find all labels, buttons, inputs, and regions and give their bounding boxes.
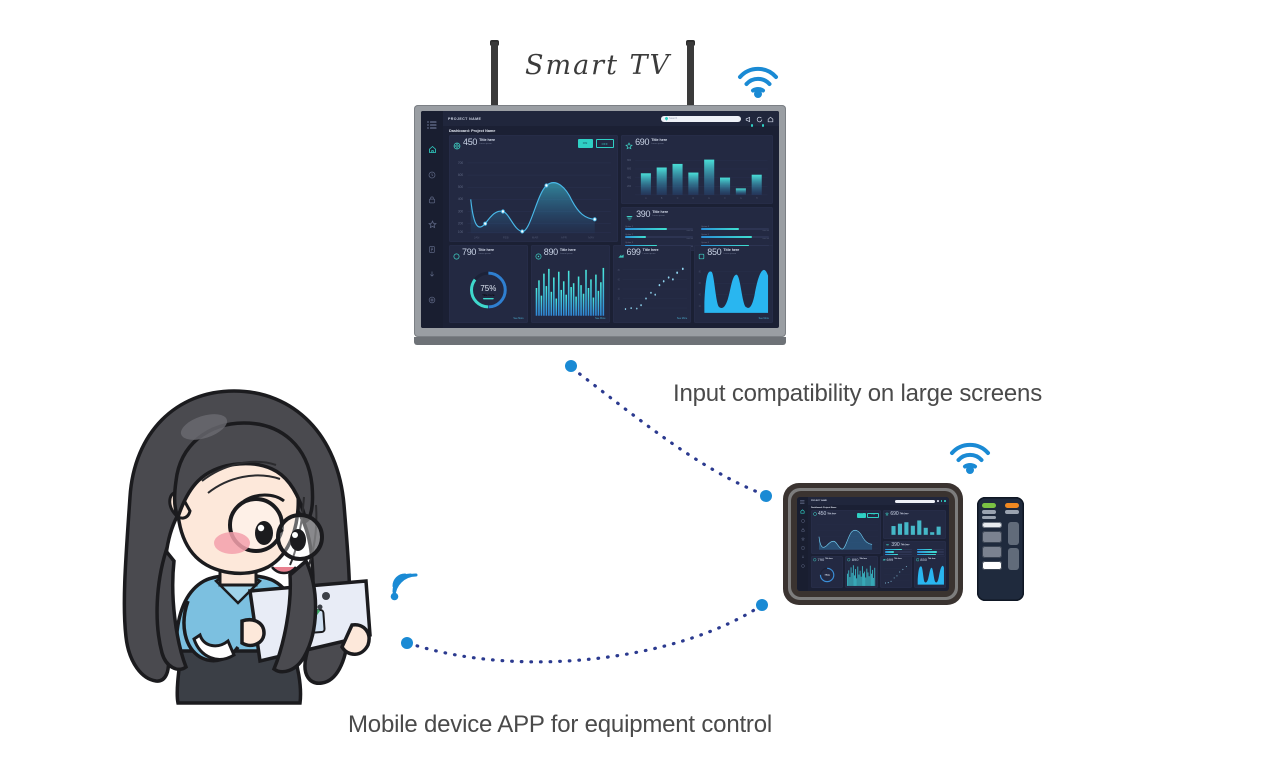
dashboard-header: PROJECT NAME xyxy=(808,497,949,505)
dashboard-sidebar xyxy=(797,497,808,591)
svg-text:MAY: MAY xyxy=(588,235,594,239)
card-title-block: Title here Lorem ipsum xyxy=(560,248,576,256)
card-subtitle: Lorem ipsum xyxy=(478,253,494,256)
dashboard-large: PROJECT NAME Search xyxy=(421,111,779,328)
dashboard-top-right-col: 690 Title here Lorem ipsum xyxy=(883,510,946,554)
svg-text:600: 600 xyxy=(627,169,632,171)
card-title-block: Title here Lorem ipsum xyxy=(723,248,739,256)
remote-control xyxy=(977,497,1024,601)
target-icon xyxy=(813,512,817,516)
progress-row: Option 5 456/700 xyxy=(701,234,769,240)
svg-text:500: 500 xyxy=(458,185,463,189)
tv-bezel: PROJECT NAME Search xyxy=(414,105,786,337)
circle-icon xyxy=(453,248,460,264)
card-value: 690 xyxy=(635,138,649,147)
svg-text:F: F xyxy=(724,198,726,200)
hand-left xyxy=(242,620,264,646)
megaphone-icon[interactable] xyxy=(745,111,752,127)
see-more-link[interactable]: See More xyxy=(453,316,524,320)
card-header: 699 Title here Lorem ipsum xyxy=(617,248,688,264)
lock-icon[interactable] xyxy=(801,528,805,532)
card-header: 790 Title here xyxy=(813,558,841,562)
home-icon[interactable] xyxy=(800,509,805,514)
chart-699-scatter: 806040 20 xyxy=(617,266,688,316)
white-pill[interactable] xyxy=(982,522,1002,528)
toggle-off-button[interactable]: OFF xyxy=(867,513,879,518)
progress-value: 456/700 xyxy=(701,230,769,232)
project-name-label: PROJECT NAME xyxy=(448,117,481,121)
clock-icon[interactable] xyxy=(428,167,436,183)
see-more-link[interactable]: See More xyxy=(698,316,769,320)
progress-row xyxy=(917,551,944,553)
svg-text:40: 40 xyxy=(617,289,620,291)
path-endpoint-tv xyxy=(565,360,577,372)
svg-text:APR: APR xyxy=(561,235,568,239)
caption-input-compatibility: Input compatibility on large screens xyxy=(673,380,1042,408)
card-subtitle: Lorem ipsum xyxy=(651,143,667,146)
card-890[interactable]: 890 Title here Lorem ipsum xyxy=(531,245,610,323)
card-790[interactable]: 790 Title here Lorem ipsum xyxy=(449,245,528,323)
white-square-button[interactable] xyxy=(982,561,1002,570)
card-title-block: Title here Lorem ipsum xyxy=(900,512,909,517)
tablet-device: PROJECT NAME Dashboard: Project Name xyxy=(783,483,963,605)
toggle-off-button[interactable]: OFF xyxy=(596,139,615,148)
svg-text:100: 100 xyxy=(458,230,463,234)
card-title: Title here xyxy=(894,559,901,561)
remote-lower-section xyxy=(982,522,1019,570)
svg-text:MAR: MAR xyxy=(532,235,539,239)
progress-label: Option 6 xyxy=(701,242,769,244)
svg-text:800: 800 xyxy=(627,160,632,162)
remote-right-column xyxy=(1008,522,1019,570)
card-subtitle: Lorem ipsum xyxy=(900,515,909,517)
scene-canvas: PROJECT NAME Search xyxy=(0,0,1280,784)
svg-text:400: 400 xyxy=(627,177,632,179)
document-icon[interactable] xyxy=(428,242,436,258)
remote-top-row xyxy=(982,503,1019,508)
star-icon xyxy=(625,138,633,154)
dashboard-header: PROJECT NAME Search xyxy=(443,111,779,126)
chart-850-area xyxy=(916,564,944,586)
card-subtitle: Lorem ipsum xyxy=(652,215,668,218)
progress-track xyxy=(625,245,693,247)
progress-track xyxy=(625,236,693,238)
wifi-icon-person xyxy=(388,573,420,603)
dashboard-main: PROJECT NAME Search xyxy=(443,111,779,328)
chart-690-bars xyxy=(885,519,944,537)
card-title-block: Title here xyxy=(928,558,935,561)
card-title-block: Title here Lorem ipsum xyxy=(479,138,495,146)
dashboard-row-top: 450 Title here Lorem ipsum ON OFF xyxy=(449,135,773,242)
eye-right xyxy=(290,529,306,551)
home-icon[interactable] xyxy=(944,500,946,502)
card-value: 850 xyxy=(707,248,721,257)
card-790[interactable]: 790 Title here 75% xyxy=(811,556,843,588)
chart-790-donut: 75% xyxy=(813,564,841,586)
chart-450-line: 700600500 400300200 100 JANFEBMAR APRMAY xyxy=(453,156,614,239)
card-value: 890 xyxy=(544,248,558,257)
progress-track xyxy=(625,228,693,230)
progress-value: 456/700 xyxy=(701,238,769,240)
progress-value: 456/700 xyxy=(625,230,693,232)
svg-text:20: 20 xyxy=(617,299,620,301)
home-icon[interactable] xyxy=(428,142,437,158)
layers-icon xyxy=(885,543,890,547)
eye-right-glint xyxy=(292,532,298,538)
chat-icon[interactable] xyxy=(756,111,763,127)
square-icon xyxy=(916,558,920,562)
card-title-block: Title here Lorem ipsum xyxy=(643,248,659,256)
volume-bar-1[interactable] xyxy=(1008,522,1019,545)
home-icon[interactable] xyxy=(767,111,774,127)
svg-text:60: 60 xyxy=(699,283,702,285)
card-header: 790 Title here Lorem ipsum xyxy=(453,248,524,264)
card-450[interactable]: 450 Title here Lorem ipsum ON OFF xyxy=(449,135,618,242)
progress-row xyxy=(917,554,944,556)
card-title: Title here xyxy=(928,559,935,561)
svg-text:40: 40 xyxy=(699,295,702,297)
path-endpoint-tablet-upper xyxy=(760,490,772,502)
card-header: 690 Title here Lorem ipsum xyxy=(885,512,944,517)
card-850[interactable]: 850 Title here xyxy=(914,556,946,588)
remote-second-row xyxy=(982,510,1019,514)
card-title-block: Title here Lorem ipsum xyxy=(651,138,667,146)
dashboard-body: 450 Title here Lorem ipsum ON OFF xyxy=(808,510,949,591)
gauge-icon xyxy=(847,558,851,562)
bar-series xyxy=(535,268,603,316)
card-value: 850 xyxy=(920,558,927,562)
download-icon[interactable] xyxy=(801,555,805,559)
card-title: Title here xyxy=(859,559,866,561)
dashboard-tablet: PROJECT NAME Dashboard: Project Name xyxy=(797,497,949,591)
card-value: 890 xyxy=(852,558,859,562)
person-with-tablet-svg xyxy=(104,385,369,705)
blush xyxy=(214,532,250,554)
path-endpoint-tablet-lower xyxy=(756,599,768,611)
card-subtitle: Lorem ipsum xyxy=(827,515,836,517)
megaphone-icon[interactable] xyxy=(937,500,939,502)
dashboard-main: PROJECT NAME Dashboard: Project Name xyxy=(808,497,949,591)
toggle-group: ON OFF xyxy=(578,138,614,148)
svg-text:600: 600 xyxy=(458,173,463,177)
progress-track xyxy=(701,236,769,238)
nav-pad-2[interactable] xyxy=(982,546,1002,558)
card-value: 699 xyxy=(627,248,641,257)
progress-row xyxy=(885,551,912,553)
gray-pill-3[interactable] xyxy=(982,516,996,520)
progress-track xyxy=(701,245,769,247)
card-subtitle: Lorem ipsum xyxy=(560,253,576,256)
svg-text:D: D xyxy=(693,198,695,200)
caption-mobile-app: Mobile device APP for equipment control xyxy=(348,711,772,739)
card-value: 450 xyxy=(463,138,477,147)
card-title-block: Title here xyxy=(894,558,901,561)
card-title-block: Title here Lorem ipsum xyxy=(827,512,836,517)
toggle-on-button[interactable]: ON xyxy=(857,513,866,518)
card-value: 690 xyxy=(890,512,898,517)
document-icon[interactable] xyxy=(801,546,805,550)
svg-text:80: 80 xyxy=(617,270,620,272)
card-value: 699 xyxy=(887,558,894,562)
wifi-icon-tv xyxy=(735,58,781,98)
chart-390-progress xyxy=(885,548,944,555)
dotted-path-person-to-tablet xyxy=(408,605,762,662)
tablet-sensor xyxy=(318,605,323,610)
lock-icon[interactable] xyxy=(428,192,436,208)
card-699[interactable]: 699 Title here xyxy=(880,556,912,588)
card-header: 450 Title here Lorem ipsum ON OFF xyxy=(453,138,614,154)
chart-790-donut: 75% Title here xyxy=(453,266,524,316)
star-icon[interactable] xyxy=(801,537,805,541)
tablet-camera xyxy=(322,592,330,600)
chart-450-line xyxy=(813,520,879,552)
card-header: 890 Title here xyxy=(847,558,875,562)
clock-icon[interactable] xyxy=(801,519,805,523)
card-header: 699 Title here xyxy=(882,558,910,562)
progress-row: Option 4 456/700 xyxy=(701,226,769,232)
square-icon xyxy=(698,248,705,264)
wifi-icon-tablet xyxy=(947,434,993,474)
card-450[interactable]: 450 Title here Lorem ipsum ON OFF xyxy=(811,510,881,554)
svg-text:400: 400 xyxy=(458,197,463,201)
smart-tv-label: Smart TV xyxy=(508,50,688,81)
card-value: 450 xyxy=(818,512,826,517)
nav-pad-1[interactable] xyxy=(982,531,1002,543)
svg-text:C: C xyxy=(677,198,679,200)
svg-text:FEB: FEB xyxy=(503,235,509,239)
tv-base-strip xyxy=(414,337,786,345)
notification-dot-2 xyxy=(762,124,765,127)
svg-text:JAN: JAN xyxy=(474,235,479,239)
smart-tv: PROJECT NAME Search xyxy=(414,105,786,345)
search-input[interactable]: Search xyxy=(661,116,741,122)
chart-690-bars: 800600 400200 xyxy=(625,156,769,201)
eye-left-glint xyxy=(258,525,264,531)
card-390[interactable]: 390 Title here Lorem ipsum xyxy=(883,541,946,557)
dashboard-row-top: 450 Title here Lorem ipsum ON OFF xyxy=(811,510,946,554)
gray-pill-2[interactable] xyxy=(1005,510,1019,514)
target-icon xyxy=(453,138,461,154)
svg-text:200: 200 xyxy=(458,221,463,225)
layers-icon xyxy=(625,210,634,226)
card-header: 450 Title here Lorem ipsum ON OFF xyxy=(813,512,879,518)
gray-pill-1[interactable] xyxy=(982,510,996,514)
progress-value: 456/700 xyxy=(625,238,693,240)
svg-text:700: 700 xyxy=(458,161,463,165)
eye-left xyxy=(255,521,273,545)
card-699[interactable]: 699 Title here Lorem ipsum xyxy=(613,245,692,323)
card-title-block: Title here xyxy=(859,558,866,561)
remote-third-row xyxy=(982,516,1019,520)
notification-dot-1 xyxy=(751,124,754,127)
circle-icon xyxy=(813,558,817,562)
card-header: 390 Title here Lorem ipsum xyxy=(625,210,769,226)
dashboard-top-right-col: 690 Title here Lorem ipsum xyxy=(621,135,773,242)
card-header: 850 Title here Lorem ipsum xyxy=(698,248,769,264)
card-subtitle: Lorem ipsum xyxy=(479,143,495,146)
breadcrumb: Dashboard: Project Name xyxy=(443,126,779,135)
card-title: Title here xyxy=(825,559,832,561)
dashboard-row-bottom: 790 Title here 75% xyxy=(811,556,946,588)
svg-text:E: E xyxy=(708,198,710,200)
card-header: 850 Title here xyxy=(916,558,944,562)
card-value: 790 xyxy=(818,558,825,562)
svg-text:80: 80 xyxy=(699,272,702,274)
chart-699-scatter xyxy=(882,564,910,586)
progress-row xyxy=(917,548,944,550)
card-title-block: Title here xyxy=(825,558,832,561)
tv-screen[interactable]: PROJECT NAME Search xyxy=(421,111,779,328)
ceiling-mount-post-left xyxy=(491,42,498,108)
person-illustration xyxy=(104,385,369,705)
svg-text:H: H xyxy=(756,198,758,200)
progress-row: Option 1 456/700 xyxy=(625,226,693,232)
progress-row: Option 2 456/700 xyxy=(625,234,693,240)
volume-bar-2[interactable] xyxy=(1008,548,1019,571)
svg-text:B: B xyxy=(661,198,663,200)
svg-text:G: G xyxy=(740,198,742,200)
card-value: 790 xyxy=(462,248,476,257)
power-orange-button[interactable] xyxy=(1005,503,1019,508)
chart-850-area: 80604020 xyxy=(698,266,769,316)
svg-text:20: 20 xyxy=(699,306,702,308)
svg-text:200: 200 xyxy=(627,186,632,188)
location-pin-icon xyxy=(664,116,668,120)
card-header: 890 Title here Lorem ipsum xyxy=(535,248,606,264)
svg-text:300: 300 xyxy=(458,209,463,213)
power-green-button[interactable] xyxy=(982,503,996,508)
search-input[interactable] xyxy=(895,500,935,503)
toggle-on-button[interactable]: ON xyxy=(578,139,593,148)
chart-890-bars xyxy=(847,564,875,586)
card-header: 690 Title here Lorem ipsum xyxy=(625,138,769,154)
star-icon[interactable] xyxy=(428,217,437,233)
dashboard-sidebar xyxy=(421,111,443,328)
card-690[interactable]: 690 Title here Lorem ipsum xyxy=(621,135,773,204)
download-icon[interactable] xyxy=(428,267,436,283)
chat-icon[interactable] xyxy=(941,500,943,502)
progress-label: Option 3 xyxy=(625,242,693,244)
project-name-label: PROJECT NAME xyxy=(811,500,827,502)
search-placeholder: Search xyxy=(669,117,677,120)
toggle-group: ON OFF xyxy=(857,512,880,518)
hamburger-menu-icon[interactable] xyxy=(800,500,805,504)
card-title-block: Title here Lorem ipsum xyxy=(478,248,494,256)
see-more-link[interactable]: See More xyxy=(535,316,606,320)
hamburger-menu-icon[interactable] xyxy=(427,117,437,133)
card-890[interactable]: 890 Title here xyxy=(845,556,877,588)
donut-center-label: 75% xyxy=(480,284,496,293)
donut-center-label: 75% xyxy=(824,573,830,577)
card-title-block: Title here Lorem ipsum xyxy=(652,210,668,218)
card-690[interactable]: 690 Title here Lorem ipsum xyxy=(883,510,946,539)
area-fill xyxy=(705,270,769,313)
card-subtitle: Lorem ipsum xyxy=(643,253,659,256)
dashboard-body: 450 Title here Lorem ipsum ON OFF xyxy=(443,135,779,328)
dashboard-row-bottom: 790 Title here Lorem ipsum xyxy=(449,245,773,323)
settings-icon[interactable] xyxy=(428,292,436,308)
see-more-link[interactable]: See More xyxy=(617,316,688,320)
donut-center-sub: Title here xyxy=(482,293,495,297)
progress-row xyxy=(885,548,912,550)
card-value: 390 xyxy=(636,210,650,219)
chart-890-bars xyxy=(535,266,606,316)
progress-track xyxy=(701,228,769,230)
svg-text:60: 60 xyxy=(617,279,620,281)
ceiling-mount-post-right xyxy=(687,42,694,108)
settings-icon[interactable] xyxy=(801,564,805,568)
bar-series xyxy=(641,160,762,195)
trend-icon xyxy=(617,248,625,264)
trend-icon xyxy=(882,558,886,562)
card-850[interactable]: 850 Title here Lorem ipsum xyxy=(694,245,773,323)
remote-left-column xyxy=(982,522,1002,570)
gauge-icon xyxy=(535,248,542,264)
card-subtitle: Lorem ipsum xyxy=(723,253,739,256)
path-endpoint-person xyxy=(401,637,413,649)
svg-text:A: A xyxy=(645,197,647,200)
tablet-screen[interactable]: PROJECT NAME Dashboard: Project Name xyxy=(797,497,949,591)
star-icon xyxy=(885,512,889,516)
progress-row xyxy=(885,554,912,556)
